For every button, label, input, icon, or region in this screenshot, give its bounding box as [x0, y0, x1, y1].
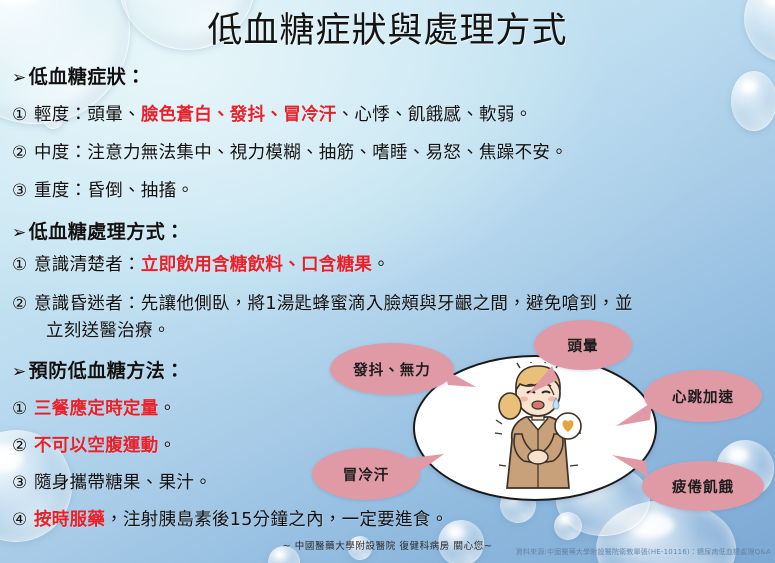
- speech-tail-icon: [444, 365, 478, 391]
- speech-tail-icon: [528, 364, 564, 396]
- speech-bubble-heartrate-label: 心跳加速: [672, 386, 734, 407]
- list-item-highlight: 不可以空腹運動: [34, 436, 159, 456]
- list-item-number: ③: [12, 471, 34, 496]
- speech-bubble-coldsweat: 冒冷汗: [312, 448, 420, 500]
- list-item-text: 意識昏迷者：先讓他側臥，將1湯匙蜂蜜滴入臉頰與牙齦之間，避免嗆到，並: [34, 294, 633, 314]
- list-item-number: ③: [12, 179, 34, 204]
- list-item-text: 輕度：頭暈、: [34, 105, 141, 125]
- list-item: ①意識清楚者：立即飲用含糖飲料、口含糖果。: [12, 253, 390, 278]
- speech-tail-icon: [612, 455, 650, 485]
- list-item: ②不可以空腹運動。: [12, 434, 176, 459]
- list-item-continuation: 立刻送醫治療。: [46, 317, 171, 342]
- list-item-text-suffix: 。: [159, 436, 177, 456]
- section-heading-prevention: ➢預防低血糖方法：: [12, 356, 185, 383]
- list-item-text-suffix: 。: [159, 399, 177, 419]
- list-item-text-suffix: 。: [372, 255, 390, 275]
- list-item: ①輕度：頭暈、臉色蒼白、發抖、冒冷汗、心悸、飢餓感、軟弱。: [12, 103, 532, 128]
- section-heading-treatment: ➢低血糖處理方式：: [12, 217, 185, 244]
- speech-bubble-shake: 發抖、無力: [330, 343, 454, 395]
- section-heading-symptoms: ➢低血糖症狀：: [12, 62, 146, 89]
- list-item-number: ①: [12, 397, 34, 422]
- list-item-text-suffix: 、心悸、飢餓感、軟弱。: [337, 105, 533, 125]
- list-item-highlight: 三餐應定時定量: [34, 399, 159, 419]
- bullet-arrow-icon: ➢: [12, 362, 27, 382]
- list-item: ③重度：昏倒、抽搐。: [12, 179, 194, 204]
- list-item-highlight: 立即飲用含糖飲料、口含糖果: [141, 255, 372, 275]
- list-item-number: ①: [12, 103, 34, 128]
- speech-bubble-coldsweat-label: 冒冷汗: [343, 464, 390, 485]
- list-item-number: ④: [12, 508, 34, 533]
- list-item: ②中度：注意力無法集中、視力模糊、抽筋、嗜睡、易怒、焦躁不安。: [12, 141, 568, 166]
- speech-bubble-dizzy: 頭暈: [534, 320, 632, 370]
- list-item-number: ②: [12, 141, 34, 166]
- speech-tail-icon: [616, 400, 654, 432]
- list-item-text: 中度：注意力無法集中、視力模糊、抽筋、嗜睡、易怒、焦躁不安。: [34, 143, 568, 163]
- section-heading-prevention-label: 預防低血糖方法：: [29, 360, 185, 382]
- section-heading-symptoms-label: 低血糖症狀：: [29, 66, 146, 88]
- list-item-number: ②: [12, 434, 34, 459]
- bullet-arrow-icon: ➢: [12, 223, 27, 243]
- list-item-highlight: 按時服藥: [34, 510, 105, 530]
- list-item: ②意識昏迷者：先讓他側臥，將1湯匙蜂蜜滴入臉頰與牙齦之間，避免嗆到，並: [12, 292, 633, 317]
- speech-bubble-dizzy-label: 頭暈: [568, 335, 599, 356]
- list-item-text: 隨身攜帶糖果、果汁。: [34, 473, 212, 493]
- hypoglycemia-illustration: 發抖、無力 頭暈 心跳加速 冒冷汗 疲倦飢餓: [310, 318, 775, 550]
- list-item-number: ①: [12, 253, 34, 278]
- source-credit: 資料來源:中國醫藥大學附設醫院衛教單張(HE-10116)：糖尿病低血糖處理Q&…: [516, 547, 771, 557]
- bullet-arrow-icon: ➢: [12, 68, 27, 88]
- list-item-text: 重度：昏倒、抽搐。: [34, 181, 194, 201]
- speech-bubble-fatigue: 疲倦飢餓: [642, 461, 764, 511]
- speech-tail-icon: [410, 452, 446, 480]
- list-item: ③隨身攜帶糖果、果汁。: [12, 471, 212, 496]
- speech-bubble-fatigue-label: 疲倦飢餓: [672, 476, 734, 497]
- slide-canvas: 低血糖症狀與處理方式 ➢低血糖症狀： ①輕度：頭暈、臉色蒼白、發抖、冒冷汗、心悸…: [0, 0, 775, 563]
- speech-bubble-heartrate: 心跳加速: [644, 370, 762, 422]
- speech-bubble-shake-label: 發抖、無力: [353, 359, 431, 380]
- list-item-number: ②: [12, 292, 34, 317]
- page-title: 低血糖症狀與處理方式: [0, 10, 775, 52]
- section-heading-treatment-label: 低血糖處理方式：: [29, 221, 185, 243]
- list-item: ①三餐應定時定量。: [12, 397, 176, 422]
- list-item-highlight: 臉色蒼白、發抖、冒冷汗: [141, 105, 337, 125]
- decorative-bubble-icon: [731, 71, 775, 131]
- list-item-text: 意識清楚者：: [34, 255, 141, 275]
